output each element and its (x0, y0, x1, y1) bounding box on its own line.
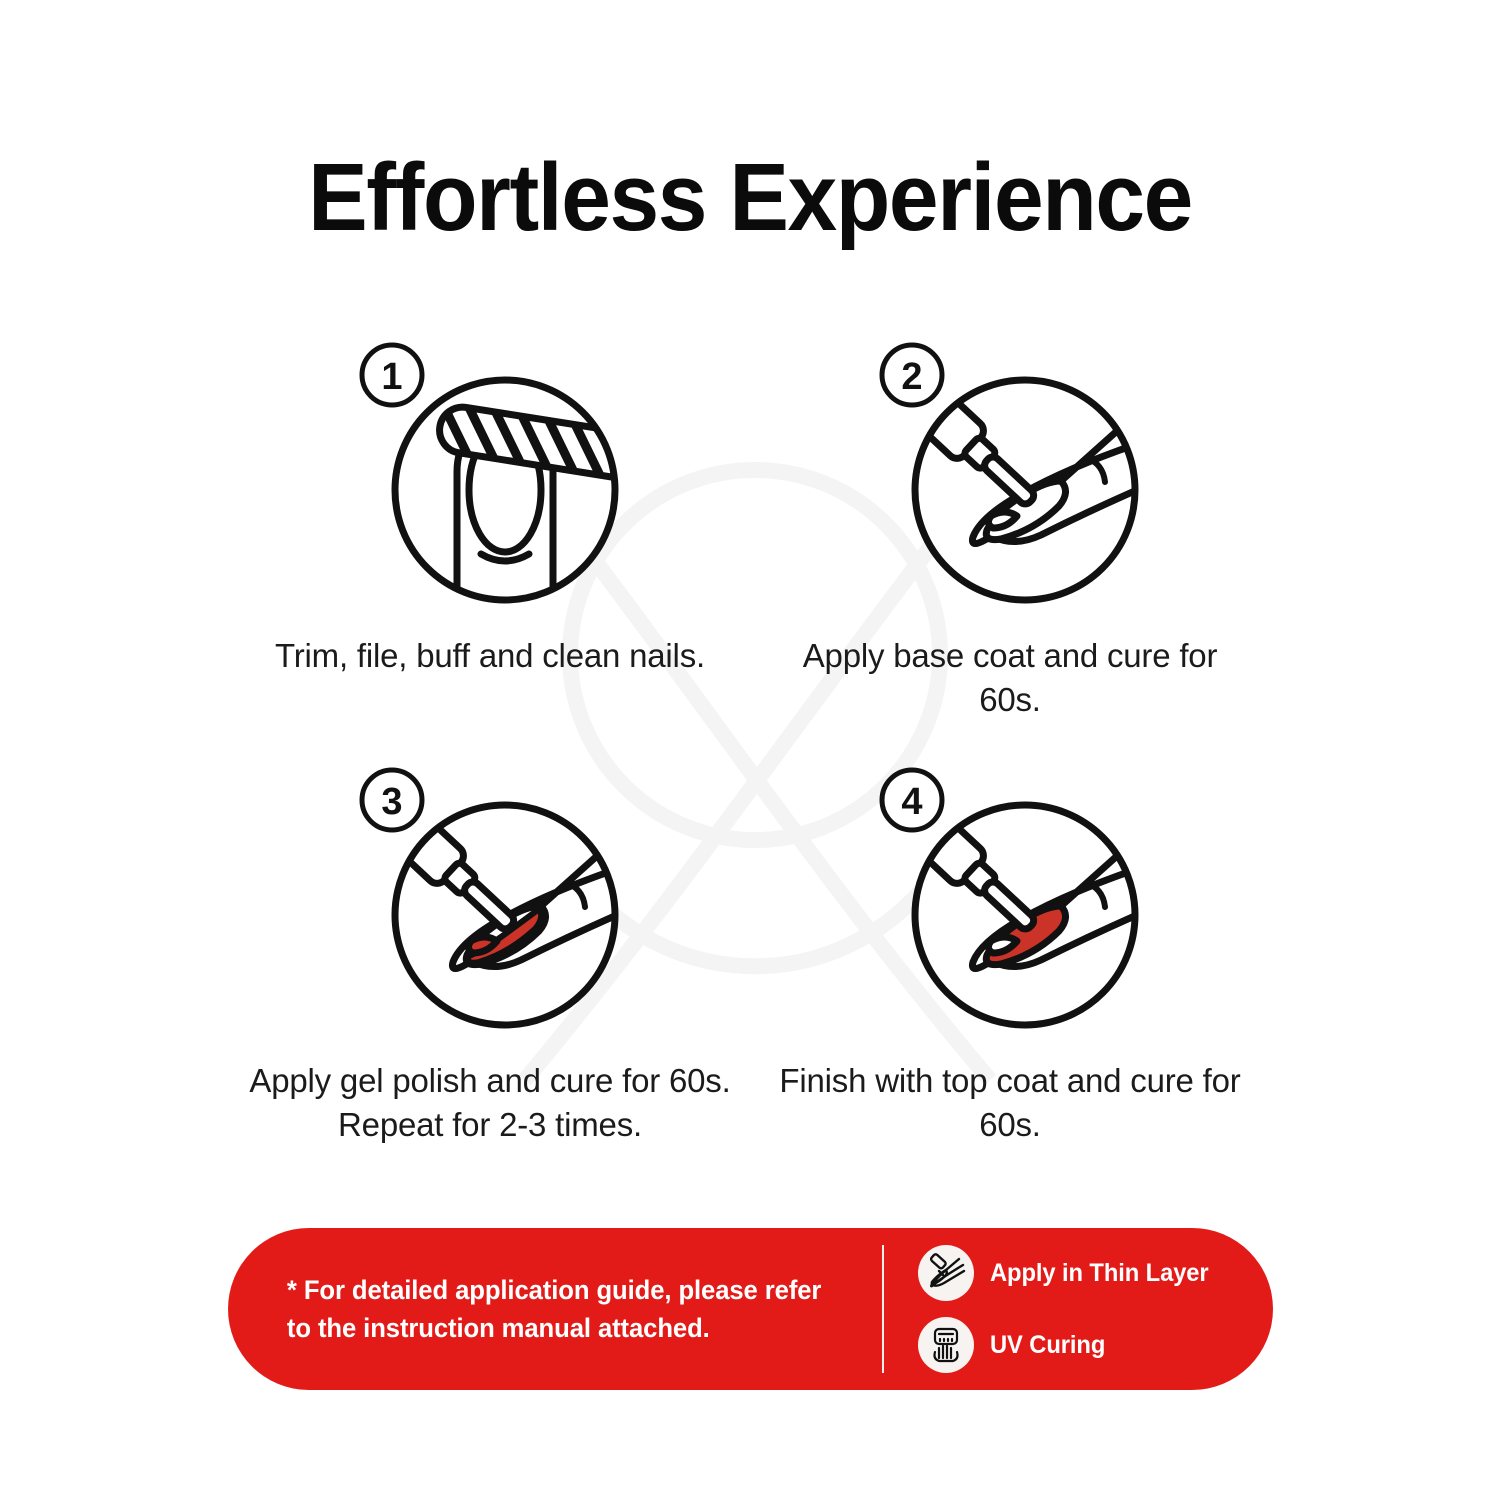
step-caption-2: Apply base coat and cure for 60s. (750, 634, 1270, 722)
page-title: Effortless Experience (53, 148, 1448, 249)
banner-features: Apply in Thin Layer UV Curing (884, 1245, 1273, 1373)
step-caption-3: Apply gel polish and cure for 60s. Repea… (230, 1059, 750, 1147)
step-4-illustration: 4 (865, 755, 1155, 1045)
footer-banner: * For detailed application guide, please… (228, 1228, 1273, 1390)
apply-thin-layer-icon (918, 1245, 974, 1301)
uv-curing-icon (918, 1317, 974, 1373)
step-2-illustration: 2 (865, 330, 1155, 620)
feature-label-apply-thin-layer: Apply in Thin Layer (990, 1259, 1209, 1288)
step-card-2: 2 Apply base coat and cure for 60s. (750, 330, 1270, 722)
step-badge-number-1: 1 (381, 356, 402, 398)
step-card-1: 1 Trim, file, buff and clean nails. (230, 330, 750, 678)
step-card-4: 4 Finish with top coat and cure for 60s. (750, 755, 1270, 1147)
feature-apply-in-thin-layer: Apply in Thin Layer (918, 1245, 1273, 1301)
step-1-illustration: 1 (345, 330, 635, 620)
step-3-illustration: 3 (345, 755, 635, 1045)
step-caption-4: Finish with top coat and cure for 60s. (750, 1059, 1270, 1147)
step-card-3: 3 Apply gel polish and cure for 60s. Rep… (230, 755, 750, 1147)
step-badge-number-4: 4 (901, 781, 922, 823)
feature-uv-curing: UV Curing (918, 1317, 1273, 1373)
step-badge-number-2: 2 (901, 356, 922, 398)
step-badge-number-3: 3 (381, 781, 402, 823)
banner-note: * For detailed application guide, please… (228, 1271, 836, 1348)
feature-label-uv-curing: UV Curing (990, 1331, 1105, 1360)
step-caption-1: Trim, file, buff and clean nails. (230, 634, 750, 678)
